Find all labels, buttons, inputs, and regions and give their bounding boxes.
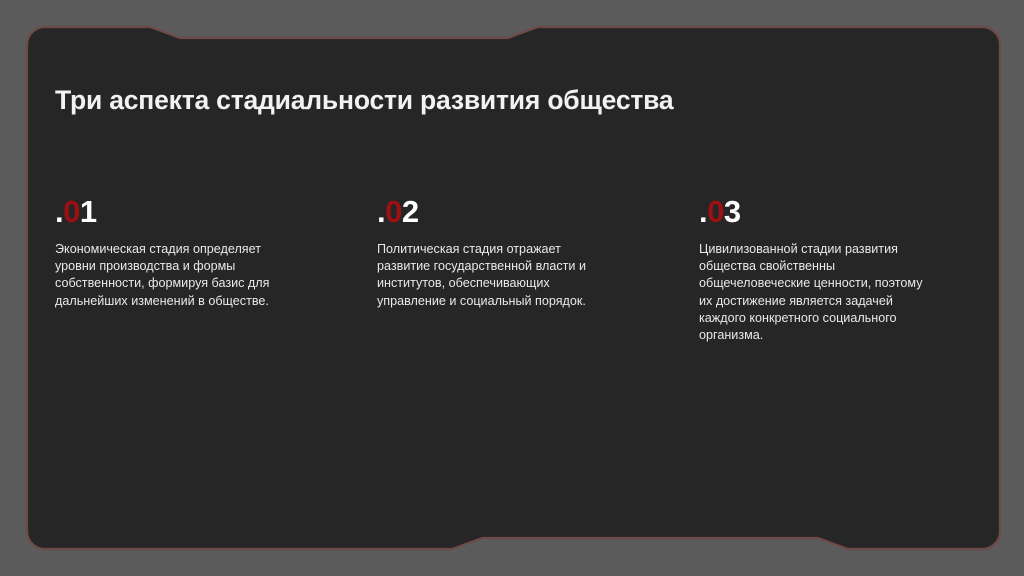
column-number-digit-1: 1: [80, 194, 97, 229]
column-item-1: .01 Экономическая стадия определяет уров…: [55, 196, 290, 344]
column-body-2: Политическая стадия отражает развитие го…: [377, 241, 612, 310]
column-number-dot-3: .: [699, 194, 707, 229]
column-number-digit-3: 3: [724, 194, 741, 229]
column-number-3: .03: [699, 196, 934, 227]
column-item-2: .02 Политическая стадия отражает развити…: [377, 196, 612, 344]
column-number-dot-2: .: [377, 194, 385, 229]
column-body-1: Экономическая стадия определяет уровни п…: [55, 241, 290, 310]
column-number-zero-1: 0: [63, 194, 80, 229]
column-number-zero-2: 0: [385, 194, 402, 229]
column-number-digit-2: 2: [402, 194, 419, 229]
page-title: Три аспекта стадиальности развития общес…: [55, 85, 935, 115]
slide-root: Три аспекта стадиальности развития общес…: [0, 0, 1024, 576]
column-number-1: .01: [55, 196, 290, 227]
column-item-3: .03 Цивилизованной стадии развития общес…: [699, 196, 934, 344]
column-body-3: Цивилизованной стадии развития общества …: [699, 241, 934, 344]
columns-container: .01 Экономическая стадия определяет уров…: [55, 196, 945, 344]
column-number-zero-3: 0: [707, 194, 724, 229]
slide-content: Три аспекта стадиальности развития общес…: [0, 0, 1024, 576]
column-number-2: .02: [377, 196, 612, 227]
column-number-dot-1: .: [55, 194, 63, 229]
